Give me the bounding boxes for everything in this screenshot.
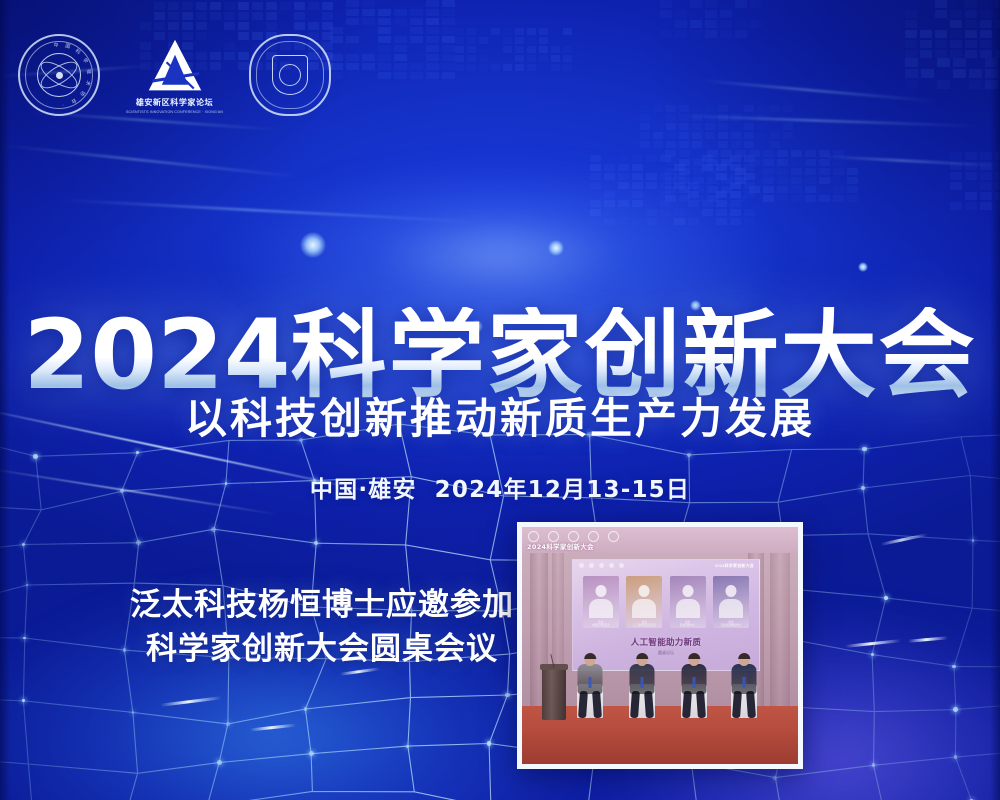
portrait-head bbox=[725, 585, 736, 597]
mesh-node bbox=[487, 741, 491, 745]
triangle-logo-wordmark: 雄安新区科学家论坛 bbox=[136, 99, 213, 107]
banner-icon-5 bbox=[608, 531, 619, 542]
event-meta: 中国·雄安2024年12月13-15日 bbox=[0, 470, 1000, 504]
screen-portrait-row: 嘉宾中国科学院院士 嘉宾人工智能研究院院长 嘉宾科技创新中心 嘉宾泛太科技杨恒博… bbox=[583, 576, 749, 628]
portrait-body bbox=[632, 599, 656, 618]
xiongan-triangle-mark-icon: 雄安新区科学家论坛 SCIENTISTS INNOVATION CONFEREN… bbox=[126, 36, 223, 114]
portrait-name: 嘉宾泛太科技杨恒博士 bbox=[713, 621, 749, 627]
screen-icon-row bbox=[579, 563, 624, 568]
seal-ring-char: 技 bbox=[85, 69, 93, 75]
seal-ring-char: 中 bbox=[53, 41, 59, 48]
triangle-logo-tagline: SCIENTISTS INNOVATION CONFERENCE · XIONG… bbox=[126, 110, 223, 114]
portrait-name: 嘉宾人工智能研究院院长 bbox=[626, 621, 662, 627]
caption-block: 泛太科技杨恒博士应邀参加 科学家创新大会圆桌会议 bbox=[130, 583, 514, 671]
portrait-body bbox=[719, 599, 743, 618]
atom-icon bbox=[37, 53, 81, 97]
banner-icon-1 bbox=[528, 531, 539, 542]
atom-nucleus bbox=[56, 72, 63, 79]
mesh-node bbox=[953, 707, 958, 712]
light-spark bbox=[858, 262, 868, 272]
photo-podium bbox=[542, 668, 566, 720]
mesh-node bbox=[26, 584, 28, 586]
screen-icon bbox=[579, 563, 584, 568]
screen-portrait-card: 嘉宾中国科学院院士 bbox=[583, 576, 619, 628]
mesh-node bbox=[314, 541, 318, 545]
mesh-node bbox=[687, 453, 691, 457]
panelist-badge bbox=[693, 677, 696, 688]
photo-banner-icons bbox=[528, 531, 619, 542]
screen-portrait-card: 嘉宾人工智能研究院院长 bbox=[626, 576, 662, 628]
photo-panelist bbox=[726, 652, 762, 718]
mesh-node bbox=[884, 596, 888, 600]
event-photo: 2024科学家创新大会 2024科学家创新大会 嘉宾中国科学院院士 bbox=[522, 527, 798, 764]
mesh-node bbox=[954, 755, 958, 759]
mesh-node bbox=[773, 776, 777, 780]
panelist-badge bbox=[743, 677, 746, 688]
photo-panelist bbox=[624, 652, 660, 718]
portrait-head bbox=[596, 585, 607, 597]
mesh-node bbox=[23, 637, 26, 640]
mesh-node bbox=[871, 653, 874, 656]
panelist-hair bbox=[636, 653, 648, 659]
panelist-hair bbox=[584, 653, 596, 659]
banner-icon-4 bbox=[588, 531, 599, 542]
photo-banner-text: 2024科学家创新大会 bbox=[527, 542, 594, 551]
photo-panelist bbox=[676, 652, 712, 718]
mesh-node bbox=[136, 451, 139, 454]
seal-ring-char: 国 bbox=[64, 42, 71, 50]
event-date: 2024年12月13-15日 bbox=[435, 477, 690, 503]
seal-ring-char: 学 bbox=[81, 57, 90, 65]
mesh-node bbox=[862, 447, 866, 451]
mesh-node bbox=[132, 711, 135, 714]
screen-icon bbox=[609, 563, 614, 568]
mesh-node bbox=[309, 751, 314, 756]
mesh-node bbox=[304, 707, 308, 711]
photo-panelist bbox=[572, 652, 608, 718]
screen-portrait-card: 嘉宾泛太科技杨恒博士 bbox=[713, 576, 749, 628]
screen-icon bbox=[619, 563, 624, 568]
mesh-node bbox=[123, 648, 126, 651]
seal-ring-char: 术 bbox=[84, 80, 92, 87]
portrait-name: 嘉宾中国科学院院士 bbox=[583, 621, 619, 627]
light-spark bbox=[300, 232, 326, 258]
panelist-badge bbox=[589, 677, 592, 688]
panelist-hair bbox=[738, 653, 750, 659]
mesh-node bbox=[872, 763, 876, 767]
banner-icon-2 bbox=[548, 531, 559, 542]
china-association-science-technology-seal-icon: 中国科学技术协会· bbox=[18, 34, 100, 116]
panelist-legs bbox=[733, 690, 755, 718]
screen-portrait-card: 嘉宾科技创新中心 bbox=[670, 576, 706, 628]
panelist-legs bbox=[579, 690, 601, 718]
portrait-head bbox=[682, 585, 693, 597]
screen-icon bbox=[599, 563, 604, 568]
mesh-node bbox=[505, 693, 509, 697]
conference-poster: 中国科学技术协会· 雄安新区科学家论坛 SCIENTISTS INNOVATIO… bbox=[0, 0, 1000, 800]
event-photo-frame: 2024科学家创新大会 2024科学家创新大会 嘉宾中国科学院院士 bbox=[517, 522, 803, 769]
seal-ring-char: 会 bbox=[70, 97, 78, 106]
portrait-body bbox=[589, 599, 613, 618]
panelist-legs bbox=[631, 690, 653, 718]
mesh-node bbox=[226, 722, 230, 726]
seal-ring-char: · bbox=[61, 102, 64, 108]
caption-line-1: 泛太科技杨恒博士应邀参加 bbox=[130, 587, 514, 623]
banner-icon-3 bbox=[568, 531, 579, 542]
portrait-body bbox=[676, 599, 700, 618]
event-location: 中国·雄安 bbox=[310, 477, 417, 503]
shield-icon bbox=[272, 55, 308, 95]
mesh-node bbox=[33, 454, 38, 459]
seal-ring-char: 科 bbox=[74, 47, 83, 56]
panelist-legs bbox=[683, 690, 705, 718]
portrait-name: 嘉宾科技创新中心 bbox=[670, 621, 706, 627]
poster-edge-right bbox=[990, 0, 1000, 800]
poster-edge-left bbox=[0, 0, 10, 800]
screen-logo-text: 2024科学家创新大会 bbox=[715, 563, 754, 569]
caption-line-2: 科学家创新大会圆桌会议 bbox=[130, 627, 514, 671]
shield-inner-ring bbox=[279, 64, 301, 86]
mesh-node bbox=[22, 699, 25, 702]
mesh-node bbox=[972, 539, 975, 542]
mesh-node bbox=[22, 543, 25, 546]
mesh-node bbox=[952, 665, 956, 669]
panelist-badge bbox=[641, 677, 644, 688]
light-spark bbox=[548, 240, 564, 256]
academy-oval-seal-icon bbox=[249, 34, 331, 116]
panelist-hair bbox=[688, 653, 700, 659]
mesh-node bbox=[136, 540, 141, 545]
logo-bar: 中国科学技术协会· 雄安新区科学家论坛 SCIENTISTS INNOVATIO… bbox=[18, 34, 331, 116]
mesh-node bbox=[406, 745, 409, 748]
mesh-node bbox=[217, 760, 222, 765]
mesh-node bbox=[211, 527, 216, 532]
seal-ring-char: 协 bbox=[78, 89, 87, 98]
portrait-head bbox=[639, 585, 650, 597]
triangle-logo-icon bbox=[145, 36, 205, 96]
screen-icon bbox=[589, 563, 594, 568]
page-subtitle: 以科技创新推动新质生产力发展 bbox=[0, 385, 1000, 446]
screen-title: 人工智能助力新质 bbox=[573, 636, 759, 648]
